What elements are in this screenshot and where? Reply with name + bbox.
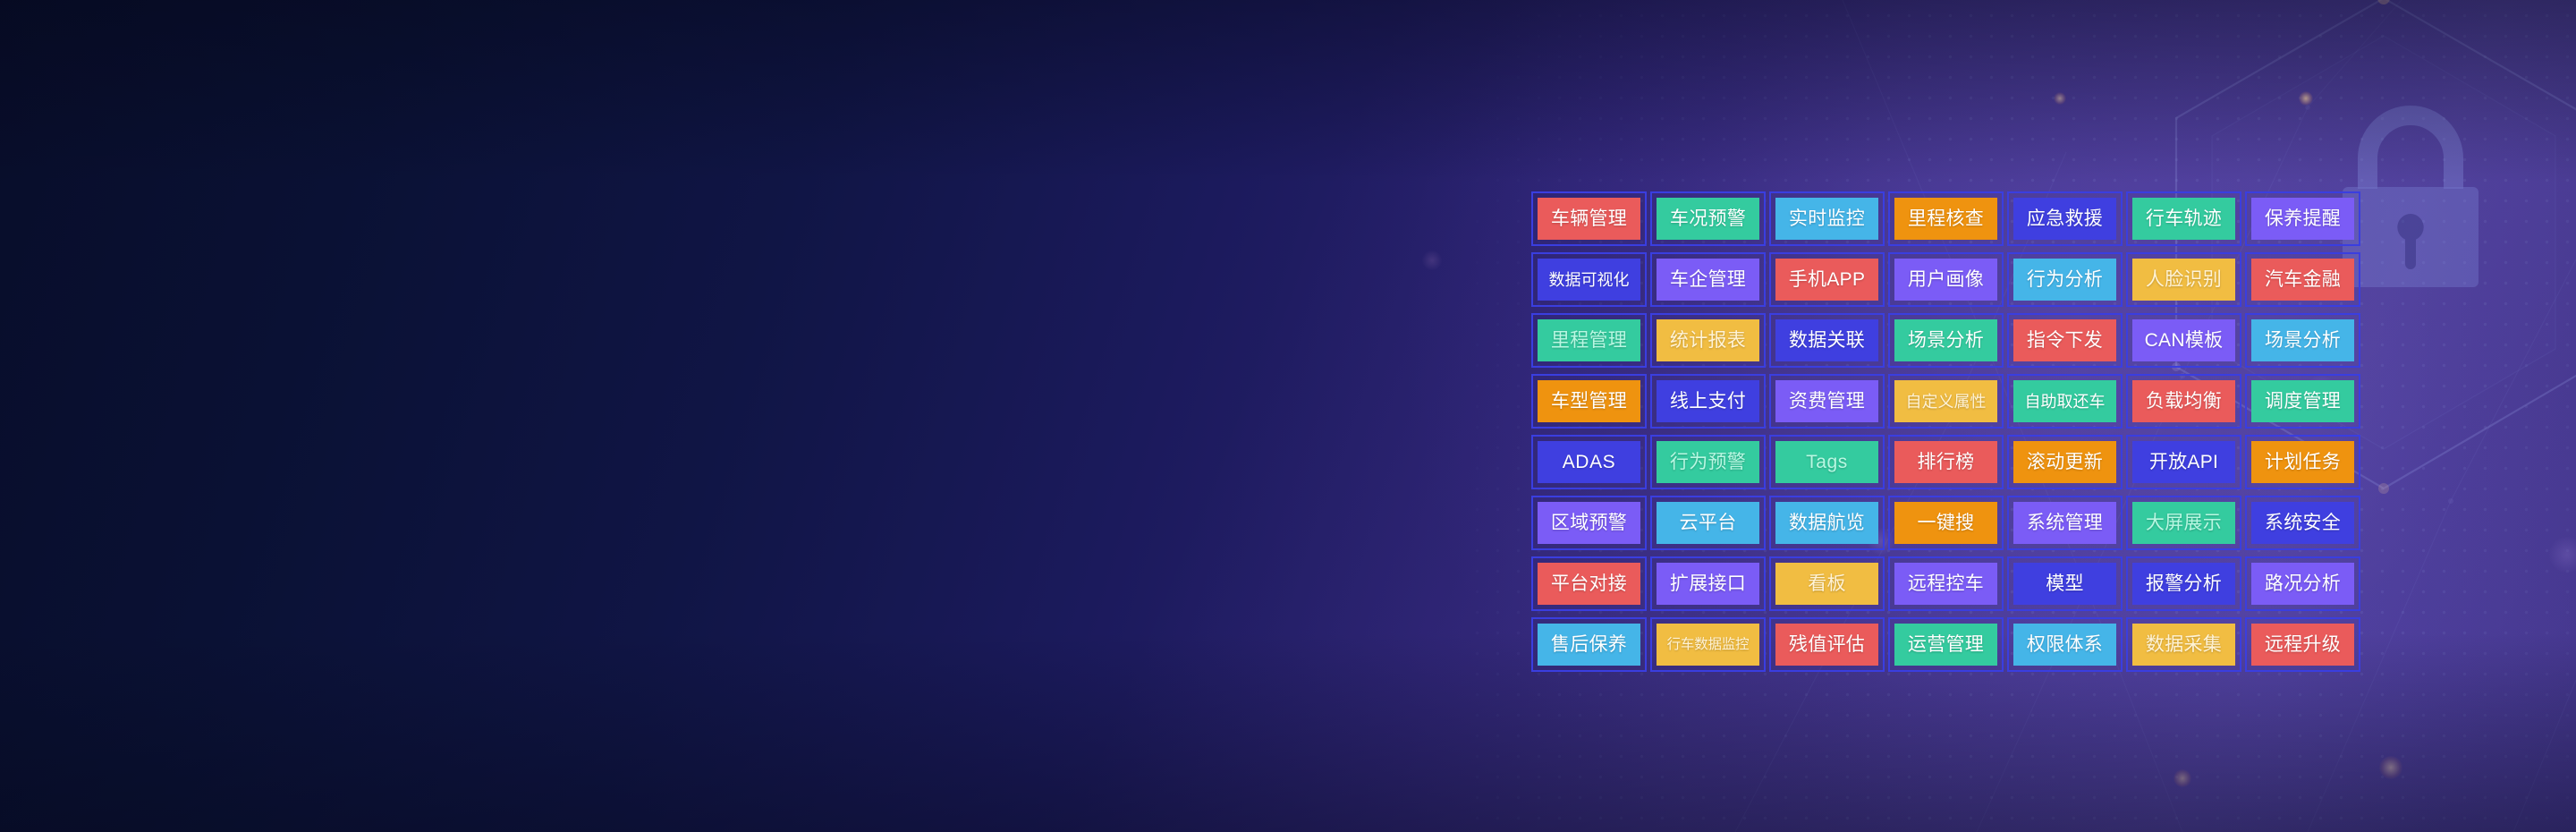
feature-tag-label: CAN模板 bbox=[2132, 319, 2235, 361]
feature-tag[interactable]: 资费管理 bbox=[1769, 374, 1885, 429]
feature-tag-label: 开放API bbox=[2132, 441, 2235, 483]
feature-tag[interactable]: 车辆管理 bbox=[1531, 191, 1647, 246]
feature-tag[interactable]: 扩展接口 bbox=[1650, 556, 1766, 611]
feature-tag[interactable]: 行为分析 bbox=[2007, 252, 2123, 307]
feature-tag[interactable]: 场景分析 bbox=[1888, 313, 2004, 368]
feature-tag-label: 行为分析 bbox=[2013, 259, 2116, 301]
feature-tag-label: 调度管理 bbox=[2251, 380, 2354, 422]
feature-tag[interactable]: 系统安全 bbox=[2245, 496, 2360, 550]
feature-tag-label: 计划任务 bbox=[2251, 441, 2354, 483]
feature-tag[interactable]: 云平台 bbox=[1650, 496, 1766, 550]
feature-tag-label: 滚动更新 bbox=[2013, 441, 2116, 483]
feature-tag[interactable]: 车况预警 bbox=[1650, 191, 1766, 246]
feature-tag-label: 统计报表 bbox=[1657, 319, 1759, 361]
feature-tag-label: 模型 bbox=[2013, 563, 2116, 605]
feature-tag[interactable]: 数据采集 bbox=[2126, 617, 2241, 672]
feature-tag-grid: 车辆管理车况预警实时监控里程核查应急救援行车轨迹保养提醒数据可视化车企管理手机A… bbox=[1531, 191, 2372, 672]
feature-tag-label: 行为预警 bbox=[1657, 441, 1759, 483]
feature-tag[interactable]: 汽车金融 bbox=[2245, 252, 2360, 307]
feature-tag[interactable]: 残值评估 bbox=[1769, 617, 1885, 672]
feature-tag[interactable]: 车型管理 bbox=[1531, 374, 1647, 429]
feature-tag-label: 车型管理 bbox=[1538, 380, 1640, 422]
feature-tag-label: 保养提醒 bbox=[2251, 198, 2354, 240]
feature-tag[interactable]: 区域预警 bbox=[1531, 496, 1647, 550]
feature-tag-label: 扩展接口 bbox=[1657, 563, 1759, 605]
feature-tag[interactable]: 看板 bbox=[1769, 556, 1885, 611]
feature-tag[interactable]: 数据可视化 bbox=[1531, 252, 1647, 307]
feature-tag-label: 负载均衡 bbox=[2132, 380, 2235, 422]
feature-tag[interactable]: 系统管理 bbox=[2007, 496, 2123, 550]
feature-tag-label: 运营管理 bbox=[1894, 624, 1997, 666]
feature-tag-label: 看板 bbox=[1775, 563, 1878, 605]
feature-tag-label: 一键搜 bbox=[1894, 502, 1997, 544]
feature-tag-label: 车辆管理 bbox=[1538, 198, 1640, 240]
feature-tag[interactable]: 报警分析 bbox=[2126, 556, 2241, 611]
feature-tag-label: 里程管理 bbox=[1538, 319, 1640, 361]
feature-tag[interactable]: 数据航览 bbox=[1769, 496, 1885, 550]
feature-tag-label: 车企管理 bbox=[1657, 259, 1759, 301]
feature-tag[interactable]: 自助取还车 bbox=[2007, 374, 2123, 429]
feature-tag[interactable]: 应急救援 bbox=[2007, 191, 2123, 246]
feature-tag[interactable]: 指令下发 bbox=[2007, 313, 2123, 368]
feature-tag[interactable]: 用户画像 bbox=[1888, 252, 2004, 307]
feature-tag-label: 残值评估 bbox=[1775, 624, 1878, 666]
feature-tag[interactable]: 行车轨迹 bbox=[2126, 191, 2241, 246]
feature-tag[interactable]: 车企管理 bbox=[1650, 252, 1766, 307]
feature-tag-label: 系统管理 bbox=[2013, 502, 2116, 544]
feature-tag-label: 远程控车 bbox=[1894, 563, 1997, 605]
feature-tag[interactable]: 平台对接 bbox=[1531, 556, 1647, 611]
feature-tag-label: 报警分析 bbox=[2132, 563, 2235, 605]
feature-tag[interactable]: 远程升级 bbox=[2245, 617, 2360, 672]
feature-tag-label: 路况分析 bbox=[2251, 563, 2354, 605]
feature-tag-label: 应急救援 bbox=[2013, 198, 2116, 240]
feature-tag-label: 行车轨迹 bbox=[2132, 198, 2235, 240]
feature-tag-label: 线上支付 bbox=[1657, 380, 1759, 422]
feature-tag[interactable]: 权限体系 bbox=[2007, 617, 2123, 672]
feature-tag-label: 数据可视化 bbox=[1538, 259, 1640, 301]
feature-tag-label: 实时监控 bbox=[1775, 198, 1878, 240]
feature-tag-label: 大屏展示 bbox=[2132, 502, 2235, 544]
feature-tag[interactable]: 里程管理 bbox=[1531, 313, 1647, 368]
feature-tag-label: 指令下发 bbox=[2013, 319, 2116, 361]
feature-tag-label: 区域预警 bbox=[1538, 502, 1640, 544]
feature-tag-label: 数据关联 bbox=[1775, 319, 1878, 361]
feature-tag[interactable]: 行为预警 bbox=[1650, 435, 1766, 489]
feature-tag[interactable]: 滚动更新 bbox=[2007, 435, 2123, 489]
feature-tag[interactable]: Tags bbox=[1769, 435, 1885, 489]
feature-tag-label: 数据航览 bbox=[1775, 502, 1878, 544]
feature-tag[interactable]: 实时监控 bbox=[1769, 191, 1885, 246]
feature-tag-label: 用户画像 bbox=[1894, 259, 1997, 301]
feature-tag[interactable]: 开放API bbox=[2126, 435, 2241, 489]
feature-tag[interactable]: 负载均衡 bbox=[2126, 374, 2241, 429]
feature-tag[interactable]: 行车数据监控 bbox=[1650, 617, 1766, 672]
feature-tag-label: ADAS bbox=[1538, 441, 1640, 483]
feature-tag[interactable]: 保养提醒 bbox=[2245, 191, 2360, 246]
feature-tag[interactable]: 排行榜 bbox=[1888, 435, 2004, 489]
feature-tag-label: 里程核查 bbox=[1894, 198, 1997, 240]
feature-tag[interactable]: 线上支付 bbox=[1650, 374, 1766, 429]
feature-tag-label: 云平台 bbox=[1657, 502, 1759, 544]
feature-tag[interactable]: ADAS bbox=[1531, 435, 1647, 489]
feature-tag-label: 自助取还车 bbox=[2013, 380, 2116, 422]
feature-tag-label: 售后保养 bbox=[1538, 624, 1640, 666]
feature-tag[interactable]: 运营管理 bbox=[1888, 617, 2004, 672]
feature-tag-label: 场景分析 bbox=[1894, 319, 1997, 361]
feature-tag[interactable]: 数据关联 bbox=[1769, 313, 1885, 368]
feature-tag-label: 车况预警 bbox=[1657, 198, 1759, 240]
feature-tag[interactable]: 一键搜 bbox=[1888, 496, 2004, 550]
feature-tag[interactable]: 调度管理 bbox=[2245, 374, 2360, 429]
feature-tag-label: 场景分析 bbox=[2251, 319, 2354, 361]
feature-tag[interactable]: 计划任务 bbox=[2245, 435, 2360, 489]
feature-tag-label: 人脸识别 bbox=[2132, 259, 2235, 301]
feature-tag[interactable]: 远程控车 bbox=[1888, 556, 2004, 611]
feature-tag-label: 手机APP bbox=[1775, 259, 1878, 301]
feature-tag-label: 权限体系 bbox=[2013, 624, 2116, 666]
feature-tag-label: 排行榜 bbox=[1894, 441, 1997, 483]
feature-tag-label: 汽车金融 bbox=[2251, 259, 2354, 301]
feature-tag-label: 平台对接 bbox=[1538, 563, 1640, 605]
feature-tag-label: 资费管理 bbox=[1775, 380, 1878, 422]
feature-tag-label: 自定义属性 bbox=[1894, 380, 1997, 422]
feature-tag[interactable]: 模型 bbox=[2007, 556, 2123, 611]
feature-tag[interactable]: 自定义属性 bbox=[1888, 374, 2004, 429]
feature-tag-label: 行车数据监控 bbox=[1657, 624, 1759, 666]
feature-tag[interactable]: 统计报表 bbox=[1650, 313, 1766, 368]
feature-tag-label: 系统安全 bbox=[2251, 502, 2354, 544]
feature-tag[interactable]: 场景分析 bbox=[2245, 313, 2360, 368]
feature-tag[interactable]: 路况分析 bbox=[2245, 556, 2360, 611]
feature-tag-label: 数据采集 bbox=[2132, 624, 2235, 666]
feature-tag[interactable]: 手机APP bbox=[1769, 252, 1885, 307]
feature-tag[interactable]: 大屏展示 bbox=[2126, 496, 2241, 550]
feature-tag[interactable]: 售后保养 bbox=[1531, 617, 1647, 672]
feature-tag[interactable]: CAN模板 bbox=[2126, 313, 2241, 368]
feature-tag[interactable]: 里程核查 bbox=[1888, 191, 2004, 246]
feature-tag-label: Tags bbox=[1775, 441, 1878, 483]
feature-tag-label: 远程升级 bbox=[2251, 624, 2354, 666]
feature-tag[interactable]: 人脸识别 bbox=[2126, 252, 2241, 307]
